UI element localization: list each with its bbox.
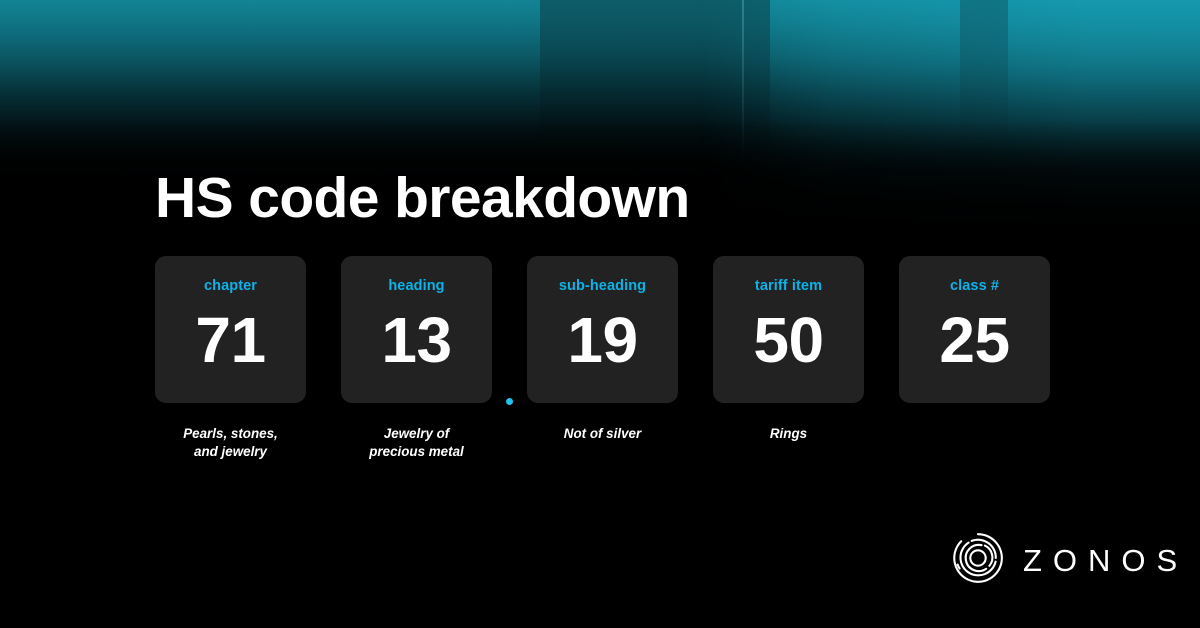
hs-code-card[interactable]: chapter 71 (155, 256, 306, 403)
card-caption: Not of silver (518, 425, 688, 443)
zonos-circular-mark-icon (951, 531, 1005, 590)
card-caption: Jewelry of precious metal (332, 425, 502, 461)
card-value: 71 (195, 297, 265, 383)
zonos-wordmark: ZONOS (1023, 544, 1188, 577)
card-label: class # (950, 278, 999, 295)
card-label: chapter (204, 278, 257, 295)
hs-code-segment-heading: heading 13 Jewelry of precious metal (341, 256, 492, 461)
cyan-dot-icon (506, 398, 513, 405)
zonos-logo[interactable]: ZONOS (951, 531, 1188, 590)
hs-code-segment-chapter: chapter 71 Pearls, stones, and jewelry (155, 256, 306, 461)
card-value: 25 (939, 297, 1009, 383)
card-label: tariff item (755, 278, 822, 295)
hs-code-segment-class-number: class # 25 (899, 256, 1050, 461)
hs-code-segment-sub-heading: sub-heading 19 Not of silver (527, 256, 678, 461)
slide-canvas: HS code breakdown chapter 71 Pearls, sto… (0, 0, 1200, 628)
card-caption: Rings (704, 425, 874, 443)
hs-code-card[interactable]: class # 25 (899, 256, 1050, 403)
hs-code-card[interactable]: heading 13 (341, 256, 492, 403)
card-label: sub-heading (559, 278, 646, 295)
card-value: 50 (753, 297, 823, 383)
hs-code-segment-tariff-item: tariff item 50 Rings (713, 256, 864, 461)
card-label: heading (388, 278, 444, 295)
hs-code-card[interactable]: tariff item 50 (713, 256, 864, 403)
hs-code-card[interactable]: sub-heading 19 (527, 256, 678, 403)
card-value: 13 (381, 297, 451, 383)
card-caption: Pearls, stones, and jewelry (146, 425, 316, 461)
page-title: HS code breakdown (155, 166, 690, 230)
hs-code-card-row: chapter 71 Pearls, stones, and jewelry h… (155, 256, 1050, 461)
card-value: 19 (567, 297, 637, 383)
